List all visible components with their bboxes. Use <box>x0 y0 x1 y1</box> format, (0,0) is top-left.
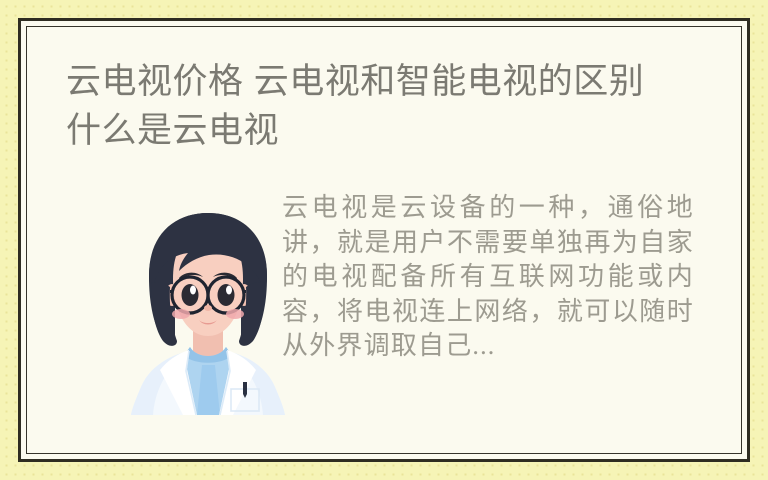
glasses-bridge-bar <box>207 290 209 293</box>
nose <box>204 305 212 311</box>
outer-frame-border: 云电视价格 云电视和智能电视的区别 什么是云电视 <box>18 18 750 462</box>
eye-right <box>218 284 235 306</box>
article-body: 云电视是云设备的一种，通俗地讲，就是用户不需要单独再为自家的电视配备所有互联网功… <box>27 187 741 437</box>
page-title: 云电视价格 云电视和智能电视的区别 什么是云电视 <box>66 57 676 155</box>
article-card: 云电视价格 云电视和智能电视的区别 什么是云电视 <box>27 27 741 453</box>
blush-left <box>172 309 190 319</box>
blush-right <box>226 309 244 319</box>
glasses-hinge-left <box>170 290 173 293</box>
eye-left-highlight <box>190 286 196 295</box>
glasses-hinge-right <box>243 290 246 293</box>
article-summary-text: 云电视是云设备的一种，通俗地讲，就是用户不需要单独再为自家的电视配备所有互联网功… <box>282 191 694 364</box>
inner-frame-border: 云电视价格 云电视和智能电视的区别 什么是云电视 <box>26 26 742 454</box>
page-background: 云电视价格 云电视和智能电视的区别 什么是云电视 <box>0 0 768 480</box>
avatar <box>127 203 289 415</box>
eye-left <box>182 284 199 306</box>
avatar-illustration <box>127 203 289 415</box>
eye-right-highlight <box>226 286 232 295</box>
